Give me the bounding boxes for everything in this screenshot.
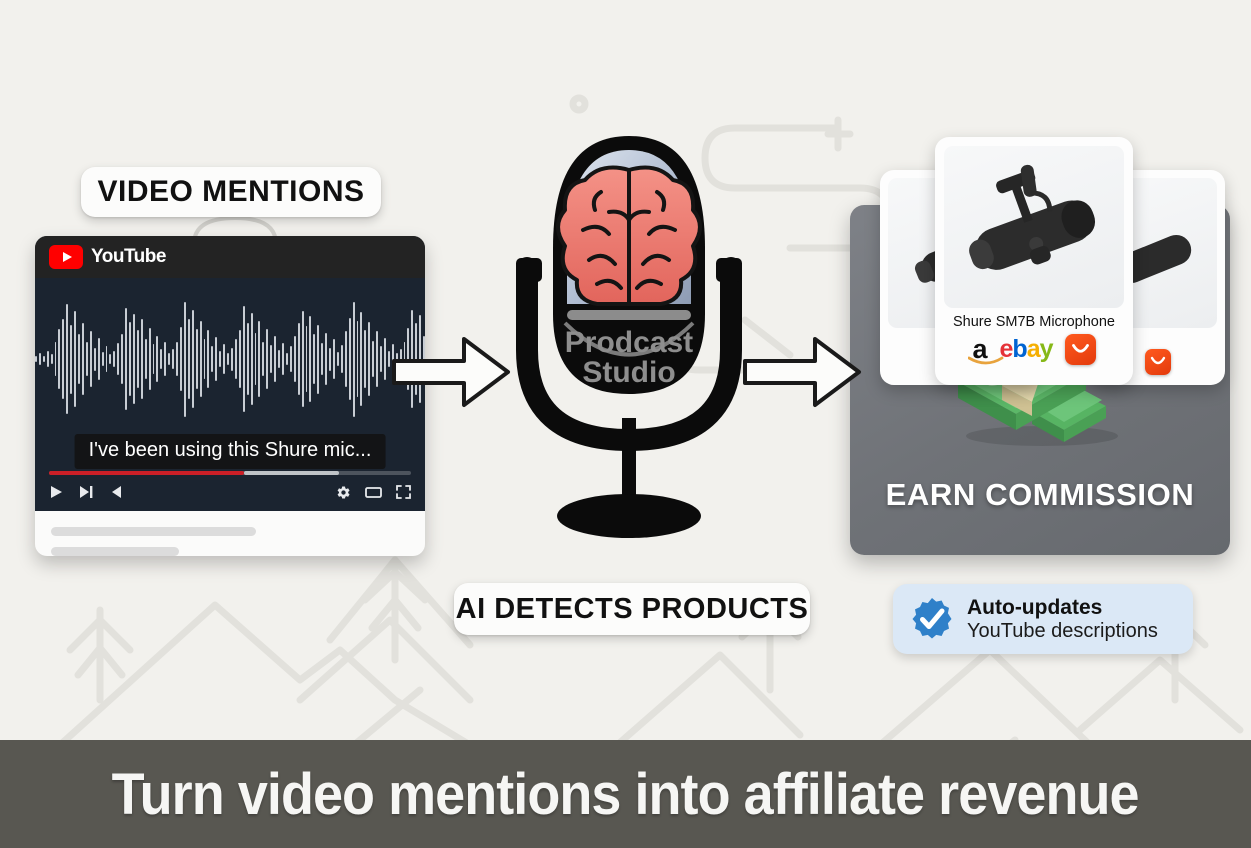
waveform-bar	[156, 336, 158, 382]
waveform-bar	[160, 349, 162, 370]
waveform-bar	[58, 329, 60, 389]
waveform-bar	[35, 356, 37, 363]
waveform-bar	[313, 334, 315, 385]
waveform-bar	[294, 336, 296, 382]
waveform-bar	[258, 321, 260, 397]
waveform-bar	[251, 313, 253, 405]
progress-played	[49, 471, 244, 475]
waveform-bar	[168, 353, 170, 365]
waveform-bar	[47, 351, 49, 367]
waveform-bar	[357, 321, 359, 397]
video-meta-placeholder	[35, 511, 425, 556]
waveform-bar	[94, 348, 96, 371]
product-card-front[interactable]: Shure SM7B Microphone a e b a y	[935, 137, 1133, 385]
waveform-bar	[176, 342, 178, 377]
waveform-bar	[62, 319, 64, 400]
flow-arrow-left	[392, 327, 512, 417]
waveform-bar	[129, 322, 131, 396]
next-icon[interactable]	[79, 485, 94, 499]
video-caption: I've been using this Shure mic...	[75, 434, 386, 469]
waveform-bar	[82, 323, 84, 394]
waveform-bar	[247, 323, 249, 394]
theater-icon[interactable]	[365, 486, 382, 499]
waveform-bar	[51, 354, 53, 364]
waveform-bar	[262, 342, 264, 377]
waveform-bar	[219, 351, 221, 367]
waveform-bar	[90, 331, 92, 386]
youtube-video-card[interactable]: YouTube I've been using this Shure mic..…	[35, 236, 425, 556]
waveform-bar	[137, 330, 139, 388]
waveform-bar	[321, 343, 323, 375]
auto-updates-text: Auto-updates YouTube descriptions	[967, 596, 1158, 642]
waveform-bar	[121, 334, 123, 385]
waveform-bar	[196, 329, 198, 389]
ebay-icon[interactable]: e b a y	[1000, 337, 1053, 362]
waveform-bar	[286, 353, 288, 365]
waveform-bar	[223, 344, 225, 374]
gear-icon[interactable]	[336, 485, 351, 500]
waveform-bar	[227, 353, 229, 365]
waveform-bar	[204, 339, 206, 378]
auto-updates-subtitle: YouTube descriptions	[967, 620, 1158, 642]
waveform-bar	[337, 352, 339, 366]
waveform-bar	[43, 356, 45, 362]
video-controls[interactable]	[49, 481, 411, 503]
waveform-bar	[145, 339, 147, 378]
waveform-bar	[290, 346, 292, 371]
video-progress-bar[interactable]	[49, 471, 411, 475]
video-mentions-label: VIDEO MENTIONS	[81, 167, 381, 217]
waveform-bar	[184, 302, 186, 417]
waveform-bar	[368, 322, 370, 396]
waveform-bar	[141, 319, 143, 400]
waveform-bar	[117, 343, 119, 375]
waveform-bar	[164, 342, 166, 377]
waveform-bar	[235, 339, 237, 378]
play-icon[interactable]	[49, 485, 63, 499]
waveform-bar	[345, 331, 347, 386]
waveform-bar	[200, 321, 202, 397]
audio-waveform	[35, 294, 425, 424]
waveform-bar	[102, 352, 104, 366]
youtube-wordmark: YouTube	[91, 246, 166, 268]
waveform-bar	[180, 327, 182, 391]
waveform-bar	[298, 323, 300, 394]
amazon-icon[interactable]: a	[972, 337, 987, 361]
waveform-bar	[278, 350, 280, 368]
waveform-bar	[341, 345, 343, 373]
waveform-bar	[353, 302, 355, 417]
rewind-icon[interactable]	[110, 485, 123, 499]
waveform-bar	[133, 314, 135, 404]
waveform-bar	[306, 326, 308, 393]
ai-brain-microphone-logo: Prodcast Studio	[505, 118, 753, 548]
waveform-bar	[243, 306, 245, 412]
waveform-bar	[309, 316, 311, 401]
waveform-bar	[172, 349, 174, 370]
auto-updates-badge: Auto-updates YouTube descriptions	[893, 584, 1193, 654]
waveform-bar	[270, 345, 272, 373]
waveform-bar	[329, 348, 331, 371]
waveform-bar	[384, 338, 386, 379]
verified-badge-icon	[909, 596, 955, 642]
auto-updates-title: Auto-updates	[967, 596, 1158, 620]
waveform-bar	[125, 308, 127, 409]
shure-sm7b-microphone-icon	[944, 152, 1124, 302]
waveform-bar	[282, 343, 284, 375]
product-title: Shure SM7B Microphone	[944, 314, 1124, 330]
waveform-bar	[188, 319, 190, 400]
waveform-bar	[266, 329, 268, 389]
waveform-bar	[372, 341, 374, 378]
waveform-bar	[317, 325, 319, 394]
waveform-bar	[274, 336, 276, 382]
waveform-bar	[325, 333, 327, 386]
waveform-bar	[70, 325, 72, 394]
bottom-banner-text: Turn video mentions into affiliate reven…	[112, 761, 1139, 828]
fullscreen-icon[interactable]	[396, 485, 411, 499]
progress-buffered	[244, 471, 338, 475]
ebay-letter-y: y	[1040, 337, 1053, 362]
waveform-bar	[106, 346, 108, 371]
waveform-bar	[215, 337, 217, 381]
waveform-bar	[255, 333, 257, 386]
earn-commission-label: EARN COMMISSION	[850, 477, 1230, 513]
youtube-header-bar: YouTube	[35, 236, 425, 278]
waveform-bar	[66, 304, 68, 414]
waveform-bar	[239, 330, 241, 388]
waveform-bar	[360, 312, 362, 406]
waveform-bar	[78, 334, 80, 385]
waveform-bar	[86, 342, 88, 377]
waveform-bar	[376, 331, 378, 386]
waveform-bar	[55, 342, 57, 377]
aliexpress-icon	[1145, 349, 1171, 375]
waveform-bar	[211, 346, 213, 371]
waveform-bar	[113, 351, 115, 367]
waveform-bar	[388, 351, 390, 367]
waveform-bar	[98, 338, 100, 379]
store-badges[interactable]: a e b a y	[944, 334, 1124, 365]
meta-line	[51, 527, 256, 536]
brain-mic-line2: Studio	[582, 356, 675, 389]
meta-line	[51, 547, 179, 556]
waveform-bar	[380, 346, 382, 371]
infographic-canvas: VIDEO MENTIONS YouTube I've been using t…	[0, 0, 1251, 848]
product-image	[944, 146, 1124, 308]
waveform-bar	[39, 353, 41, 365]
waveform-bar	[333, 339, 335, 378]
waveform-bar	[109, 354, 111, 363]
ebay-letter-a: a	[1027, 337, 1040, 362]
waveform-bar	[149, 328, 151, 390]
waveform-bar	[349, 318, 351, 401]
waveform-bar	[231, 348, 233, 371]
waveform-bar	[74, 311, 76, 408]
youtube-play-icon	[49, 245, 83, 269]
bottom-banner: Turn video mentions into affiliate reven…	[0, 740, 1251, 848]
brain-mic-line1: Prodcast	[565, 326, 693, 359]
waveform-bar	[207, 330, 209, 388]
flow-arrow-right	[743, 327, 863, 417]
waveform-bar	[153, 344, 155, 374]
aliexpress-icon[interactable]	[1065, 334, 1096, 365]
waveform-bar	[302, 311, 304, 408]
waveform-bar	[364, 330, 366, 388]
video-player[interactable]: YouTube I've been using this Shure mic..…	[35, 236, 425, 511]
waveform-bar	[192, 310, 194, 409]
ai-detects-products-label: AI DETECTS PRODUCTS	[454, 583, 810, 635]
ebay-letter-b: b	[1012, 337, 1026, 362]
